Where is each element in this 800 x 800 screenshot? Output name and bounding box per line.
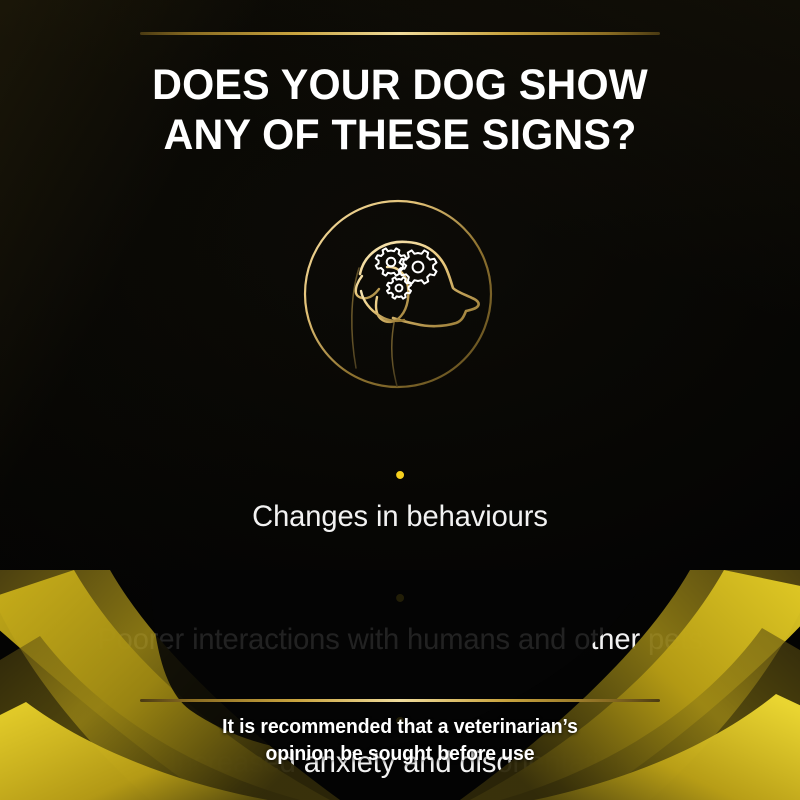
icon-dog-chest-contour [392,318,397,386]
footer-note: It is recommended that a veterinarian’s … [12,714,788,768]
list-item: • Changes in behaviours [12,414,788,537]
icon-gear-group [376,248,437,298]
page-title: DOES YOUR DOG SHOW ANY OF THESE SIGNS? [16,60,784,160]
poster-canvas: DOES YOUR DOG SHOW ANY OF THESE SIGNS? [0,0,800,800]
bottom-gold-divider [140,699,660,702]
bullet-marker: • [395,582,405,615]
list-item: • Significant reduction in motor functio… [12,783,788,800]
list-item: • Poorer interactions with humans and ot… [12,537,788,660]
list-item-label: Poorer interactions with humans and othe… [97,623,702,656]
top-gold-divider [140,32,660,35]
bullet-marker: • [395,459,405,492]
dog-head-gears-circle-icon [300,196,496,392]
icon-dog-brow [356,276,379,298]
list-item-label: Changes in behaviours [252,500,548,533]
icon-dog-jaw [361,291,404,321]
